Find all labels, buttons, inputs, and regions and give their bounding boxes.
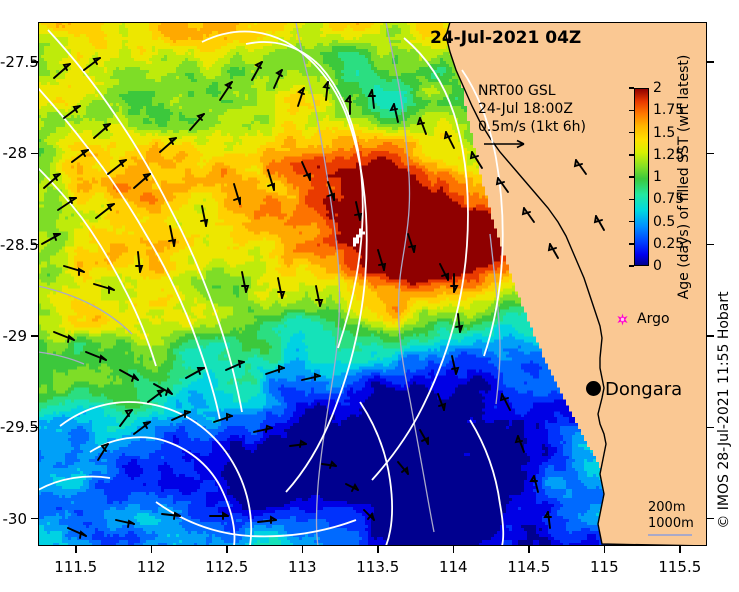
x-tick-label: 114.5 (507, 558, 550, 576)
gsl-annotation: NRT00 GSL 24-Jul 18:00Z 0.5m/s (1kt 6h) (478, 82, 586, 155)
colorbar-tick (629, 243, 634, 245)
speed-scale-arrow-icon (478, 136, 538, 150)
y-tick (31, 153, 38, 155)
map-title: 24-Jul-2021 04Z (430, 28, 581, 48)
colorbar-tick-label: 1.5 (653, 125, 675, 141)
y-tick-right (707, 518, 714, 520)
depth-1000m-label: 1000m (648, 516, 694, 532)
y-tick-right (707, 244, 714, 246)
x-tick (75, 546, 77, 553)
y-tick-right (707, 153, 714, 155)
dongara-city-label: Dongara (605, 379, 682, 400)
x-tick (528, 546, 530, 553)
gsl-speed-scale: 0.5m/s (1kt 6h) (478, 118, 586, 136)
y-tick (31, 335, 38, 337)
colorbar-tick (629, 132, 634, 134)
x-tick (302, 546, 304, 553)
y-tick-right (707, 427, 714, 429)
x-tick (226, 546, 228, 553)
gsl-product: NRT00 GSL (478, 82, 586, 100)
colorbar-tick (629, 176, 634, 178)
colorbar-tick-label: 1 (653, 169, 662, 185)
x-tick-label: 115 (590, 558, 619, 576)
gsl-timestamp: 24-Jul 18:00Z (478, 100, 586, 118)
x-tick-label: 112.5 (205, 558, 248, 576)
colorbar (634, 88, 649, 266)
colorbar-tick-label: 0.25 (653, 236, 684, 252)
argo-float-icon (616, 313, 629, 326)
dongara-city-marker (586, 381, 601, 396)
x-tick (679, 546, 681, 553)
y-tick-label: -30 (0, 510, 27, 528)
colorbar-title: Age (days) of filled SST (wrt latest) (676, 55, 692, 300)
y-tick-label: -28 (0, 144, 27, 162)
map-figure: 24-Jul-2021 04Z NRT00 GSL 24-Jul 18:00Z … (0, 0, 739, 592)
map-plot-area (38, 22, 707, 546)
x-tick (377, 546, 379, 553)
y-tick-label: -27.5 (0, 53, 27, 71)
colorbar-tick (629, 87, 634, 89)
x-tick (151, 546, 153, 553)
colorbar-tick-label: 0 (653, 258, 662, 274)
colorbar-tick-label: 1.75 (653, 102, 684, 118)
depth-contour-sample-line (648, 534, 692, 536)
x-tick-label: 115.5 (658, 558, 701, 576)
copyright-notice: © IMOS 28-Jul-2021 11:55 Hobart (716, 291, 732, 528)
colorbar-tick-label: 2 (653, 80, 662, 96)
x-tick-label: 113.5 (356, 558, 399, 576)
x-tick-label: 111.5 (54, 558, 97, 576)
x-tick-label: 112 (137, 558, 166, 576)
colorbar-tick (629, 199, 634, 201)
argo-legend-label: Argo (637, 311, 670, 327)
y-tick (31, 518, 38, 520)
y-tick-label: -29 (0, 327, 27, 345)
colorbar-tick (629, 221, 634, 223)
colorbar-tick (629, 110, 634, 112)
colorbar-tick-label: 0.5 (653, 214, 675, 230)
y-tick-label: -29.5 (0, 418, 27, 436)
colorbar-tick-label: 0.75 (653, 191, 684, 207)
x-tick (453, 546, 455, 553)
y-tick-label: -28.5 (0, 236, 27, 254)
x-tick (604, 546, 606, 553)
colorbar-tick (629, 154, 634, 156)
colorbar-tick-label: 1.25 (653, 147, 684, 163)
y-tick-right (707, 335, 714, 337)
x-tick-label: 113 (288, 558, 317, 576)
depth-contour-key: 200m 1000m (648, 500, 694, 532)
map-overlays (38, 22, 707, 546)
depth-200m-label: 200m (648, 500, 694, 516)
x-tick-label: 114 (439, 558, 468, 576)
colorbar-tick (629, 265, 634, 267)
bathymetry-contours (38, 22, 500, 546)
y-tick-right (707, 61, 714, 63)
